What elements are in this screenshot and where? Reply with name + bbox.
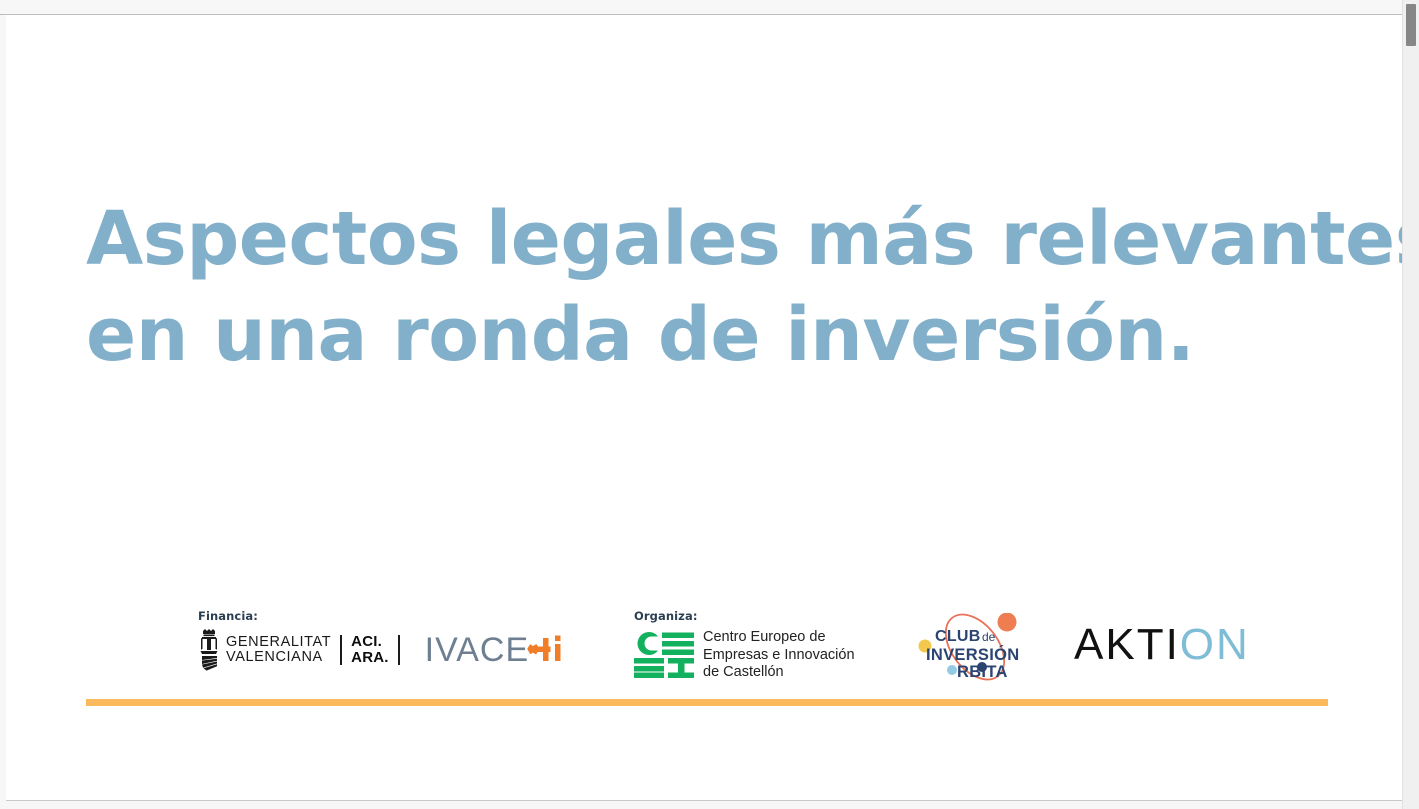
orbit-dot-blue <box>947 665 957 675</box>
page-top-strip <box>0 0 1419 15</box>
aci-label: ACI. <box>351 634 388 650</box>
ceei-line-1: Centro Europeo de <box>703 629 855 647</box>
ceei-logo: Centro Europeo de Empresas e Innovación … <box>634 629 855 682</box>
aktion-part-light: ON <box>1180 620 1250 669</box>
generalitat-line-2: VALENCIANA <box>226 650 331 666</box>
aci-ara-logo: ACI. ARA. <box>351 634 388 666</box>
sponsor-group-organiza: Organiza: <box>634 609 855 682</box>
orbit-dot-orange <box>998 613 1017 632</box>
ceei-line-3: de Castellón <box>703 664 855 682</box>
ivace-plus-i-icon <box>527 633 567 667</box>
page-title: Aspectos legales más relevantes en una r… <box>86 191 1326 383</box>
club-inversion-orbita-logo: CLUB de INVERSIÓN RBITA <box>912 613 1047 681</box>
orbita-logo-icon: CLUB de INVERSIÓN RBITA <box>912 613 1047 681</box>
organiza-logo-row: Centro Europeo de Empresas e Innovación … <box>634 629 855 682</box>
aktion-logo: AKTION <box>1074 621 1250 669</box>
generalitat-valenciana-logo: GENERALITAT VALENCIANA <box>198 629 331 671</box>
bottom-accent-rule <box>86 699 1328 706</box>
orbita-club-text: CLUB <box>935 628 981 645</box>
ceei-mark-icon <box>634 632 694 678</box>
financia-label: Financia: <box>198 609 567 623</box>
sponsor-band: Financia: <box>86 595 1336 695</box>
ivace-wordmark: IVACE <box>425 633 530 667</box>
title-line-1: Aspectos legales más relevantes <box>86 191 1326 287</box>
orbita-orbita-text: RBITA <box>957 663 1008 681</box>
ivace-logo: IVACE <box>425 633 568 667</box>
ceei-line-2: Empresas e Innovación <box>703 647 855 665</box>
ara-label: ARA. <box>351 650 388 666</box>
generalitat-valenciana-text: GENERALITAT VALENCIANA <box>226 635 331 666</box>
logo-divider-1 <box>340 635 342 665</box>
ivace-plus-i-mark <box>527 633 567 667</box>
financia-logo-row: GENERALITAT VALENCIANA ACI. ARA. IVACE <box>198 629 567 671</box>
organiza-label: Organiza: <box>634 609 855 623</box>
slide-canvas: Aspectos legales más relevantes en una r… <box>6 15 1406 801</box>
title-line-2: en una ronda de inversión. <box>86 287 1326 383</box>
orbita-inversion-text: INVERSIÓN <box>926 645 1019 664</box>
generalitat-crown-shield-icon <box>198 629 220 671</box>
scrollbar-thumb[interactable] <box>1406 4 1416 46</box>
sponsor-group-financia: Financia: <box>198 609 567 671</box>
orbita-de-text: de <box>982 630 996 644</box>
ceei-text: Centro Europeo de Empresas e Innovación … <box>703 629 855 682</box>
logo-divider-2 <box>398 635 400 665</box>
aktion-part-dark: AKTI <box>1074 620 1180 669</box>
generalitat-line-1: GENERALITAT <box>226 635 331 651</box>
vertical-scrollbar[interactable] <box>1402 0 1419 809</box>
browser-viewport: Aspectos legales más relevantes en una r… <box>0 0 1419 809</box>
